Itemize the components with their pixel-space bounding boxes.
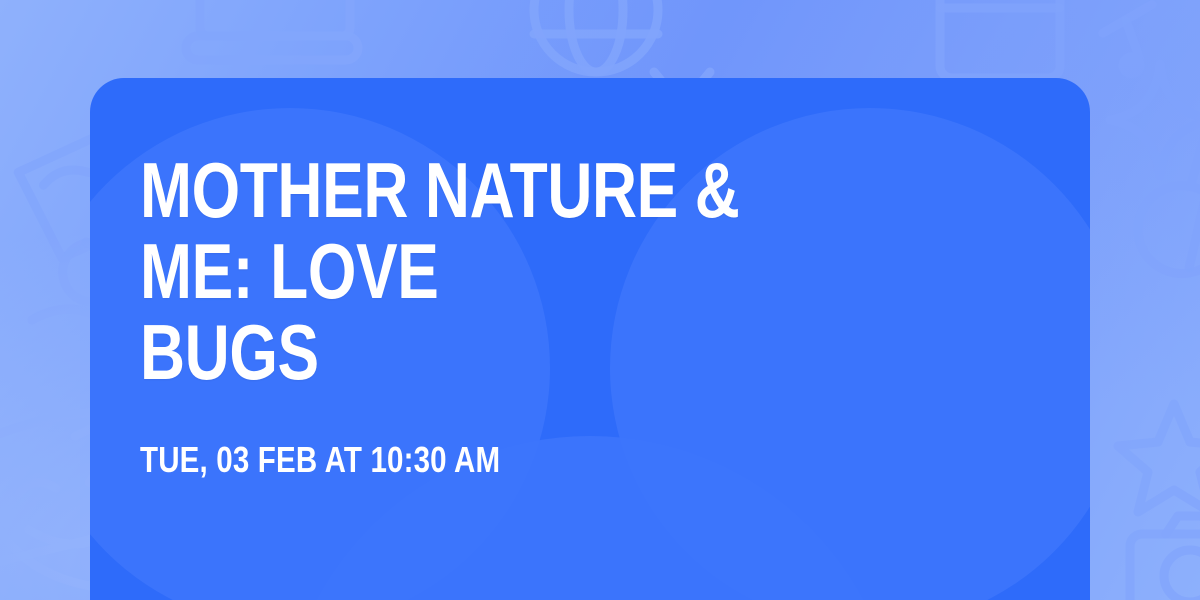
star-icon bbox=[1118, 404, 1200, 512]
event-banner: Mother Nature & Me: Love Bugs Tue, 03 Fe… bbox=[0, 0, 1200, 600]
event-title: Mother Nature & Me: Love Bugs bbox=[140, 150, 852, 393]
event-card[interactable]: Mother Nature & Me: Love Bugs Tue, 03 Fe… bbox=[90, 78, 1090, 600]
globe-icon bbox=[534, 0, 658, 72]
camera-icon bbox=[1130, 516, 1200, 600]
film-clapper-icon bbox=[186, 0, 358, 60]
calendar-icon bbox=[940, 0, 1060, 78]
event-card-content: Mother Nature & Me: Love Bugs Tue, 03 Fe… bbox=[90, 78, 1090, 481]
sparkle-icon bbox=[1110, 64, 1200, 176]
event-datetime: Tue, 03 Feb at 10:30 AM bbox=[140, 439, 870, 481]
